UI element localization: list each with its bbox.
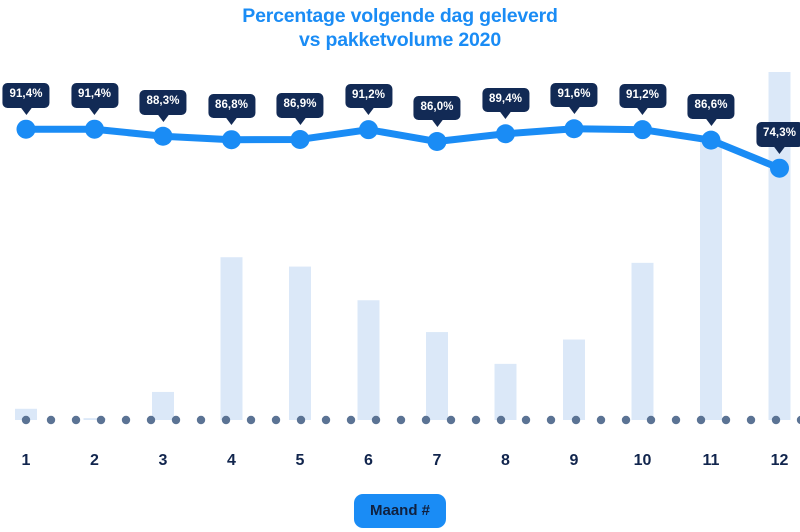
axis-dot [497,416,505,424]
axis-dot [172,416,180,424]
bar-series [15,72,791,420]
data-label: 86,0% [413,96,460,121]
data-label: 74,3% [756,122,800,147]
bar [632,263,654,420]
axis-dot [547,416,555,424]
line-marker[interactable] [154,127,173,146]
axis-dot [197,416,205,424]
axis-dot [397,416,405,424]
line-marker[interactable] [428,132,447,151]
axis-dot [322,416,330,424]
x-axis-tick-label: 7 [433,452,442,470]
axis-dot [47,416,55,424]
data-label: 91,2% [619,84,666,109]
axis-dot-row [22,416,800,424]
bar [221,257,243,420]
data-label: 86,6% [687,94,734,119]
axis-dot [247,416,255,424]
axis-dot [747,416,755,424]
axis-dot [272,416,280,424]
axis-dot [572,416,580,424]
axis-dot [147,416,155,424]
bar [563,340,585,420]
line-marker[interactable] [85,120,104,139]
line-marker[interactable] [770,159,789,178]
chart-canvas [0,0,800,440]
bar [495,364,517,420]
line-marker[interactable] [291,130,310,149]
plot-area: 91,4%91,4%88,3%86,8%86,9%91,2%86,0%89,4%… [0,0,800,440]
data-label: 91,6% [550,83,597,108]
axis-dot [222,416,230,424]
x-axis-tick-label: 4 [227,452,236,470]
data-label: 89,4% [482,88,529,113]
bar [289,267,311,420]
x-axis: 123456789101112 [0,452,800,482]
chart-container: Percentage volgende dag geleverd vs pakk… [0,0,800,532]
line-marker[interactable] [17,120,36,139]
axis-dot [622,416,630,424]
axis-dot [372,416,380,424]
line-marker[interactable] [702,131,721,150]
data-label: 91,2% [345,84,392,109]
bar [700,139,722,420]
line-marker[interactable] [633,120,652,139]
axis-dot [472,416,480,424]
line-marker[interactable] [222,130,241,149]
axis-dot [522,416,530,424]
bar [358,300,380,420]
axis-dot [772,416,780,424]
axis-dot [97,416,105,424]
bar [426,332,448,420]
axis-dot [722,416,730,424]
axis-dot [597,416,605,424]
axis-dot [347,416,355,424]
axis-dot [122,416,130,424]
line-marker[interactable] [496,124,515,143]
x-axis-tick-label: 10 [634,452,652,470]
axis-dot [647,416,655,424]
data-label: 86,8% [208,94,255,119]
line-series-path [26,129,780,168]
line-marker[interactable] [359,120,378,139]
x-axis-tick-label: 2 [90,452,99,470]
x-axis-legend-badge[interactable]: Maand # [354,494,446,528]
x-axis-tick-label: 6 [364,452,373,470]
axis-dot [672,416,680,424]
data-label: 91,4% [2,83,49,108]
data-label: 88,3% [139,90,186,115]
x-axis-tick-label: 1 [22,452,31,470]
x-axis-tick-label: 3 [159,452,168,470]
x-axis-tick-label: 8 [501,452,510,470]
axis-dot [22,416,30,424]
axis-dot [72,416,80,424]
x-axis-tick-label: 11 [703,452,720,470]
axis-dot [697,416,705,424]
axis-dot [297,416,305,424]
x-axis-tick-label: 12 [771,452,789,470]
data-label: 91,4% [71,83,118,108]
line-marker[interactable] [565,119,584,138]
line-series-markers [17,119,790,177]
x-axis-tick-label: 9 [570,452,579,470]
axis-dot [422,416,430,424]
axis-dot [447,416,455,424]
bar [152,392,174,420]
data-label: 86,9% [276,93,323,118]
x-axis-tick-label: 5 [296,452,305,470]
